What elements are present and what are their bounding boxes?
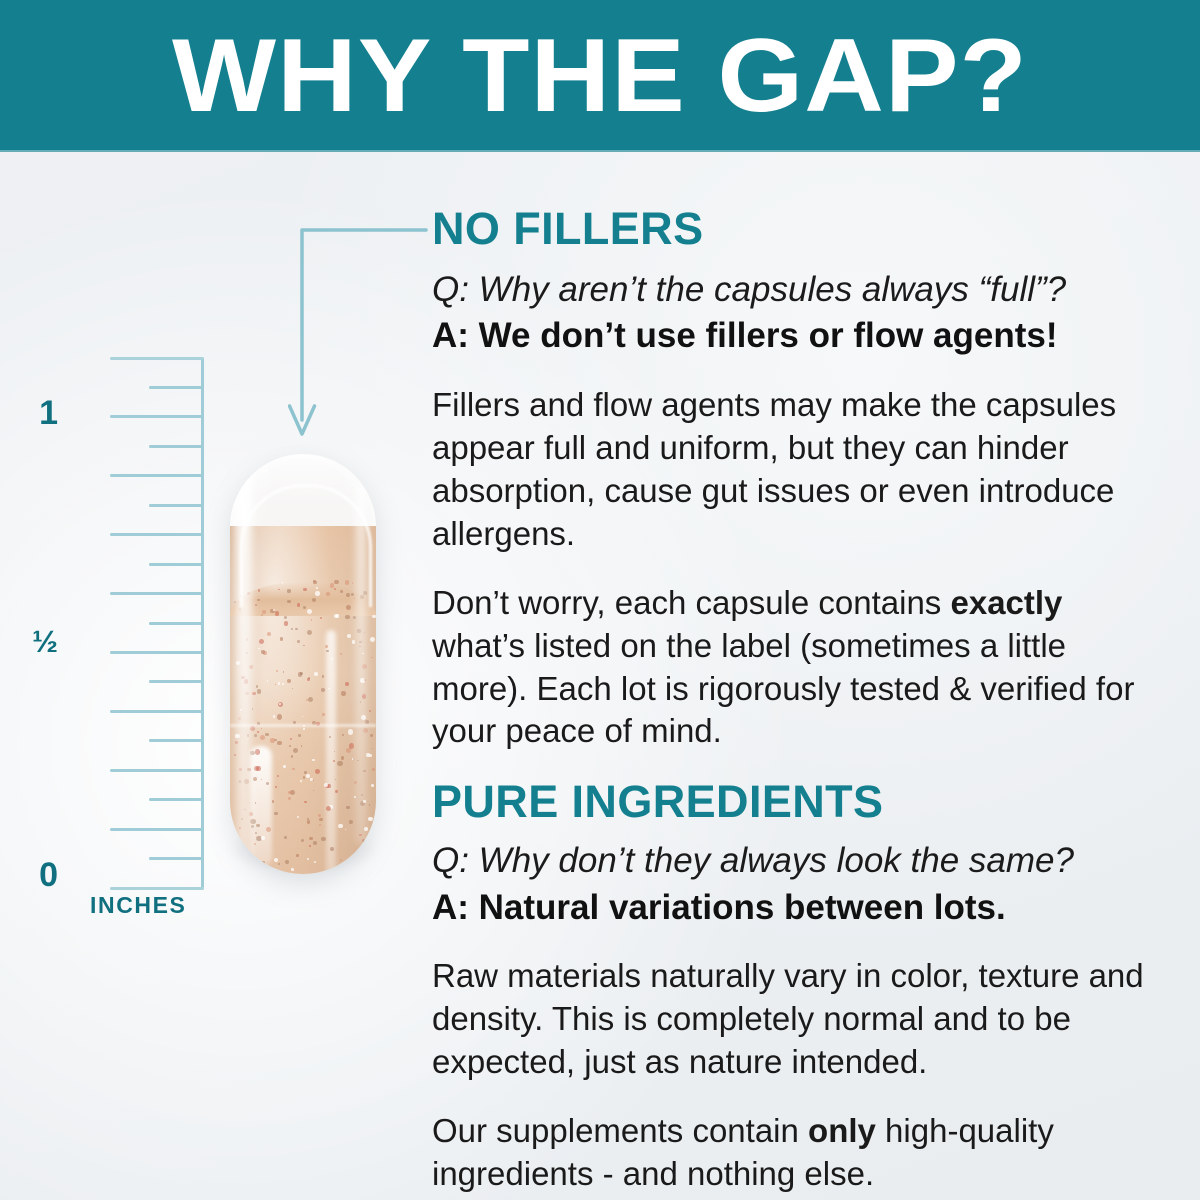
powder-speck bbox=[325, 645, 328, 648]
body-paragraph: Fillers and flow agents may make the cap… bbox=[432, 384, 1148, 556]
body-paragraph: Don’t worry, each capsule contains exact… bbox=[432, 582, 1148, 754]
powder-highlight-a bbox=[250, 746, 272, 866]
powder-speck bbox=[345, 682, 350, 687]
powder-speck bbox=[369, 818, 370, 819]
powder-speck bbox=[293, 748, 298, 753]
powder-speck bbox=[289, 745, 291, 747]
section-answer: A: We don’t use fillers or flow agents! bbox=[432, 315, 1148, 358]
powder-speck bbox=[270, 738, 274, 742]
powder-speck bbox=[314, 861, 316, 863]
ruler-tick-minor bbox=[149, 680, 204, 683]
powder-speck bbox=[321, 837, 325, 841]
powder-speck bbox=[348, 729, 353, 734]
section-heading: PURE INGREDIENTS bbox=[432, 779, 1148, 826]
section-paragraphs: Raw materials naturally vary in color, t… bbox=[432, 955, 1148, 1195]
ruler-tick-major bbox=[110, 592, 204, 595]
powder-speck bbox=[244, 869, 247, 872]
powder-speck bbox=[306, 699, 308, 701]
powder-speck bbox=[341, 756, 344, 759]
powder-speck bbox=[278, 682, 280, 684]
powder-speck bbox=[369, 710, 371, 712]
powder-speck bbox=[253, 777, 257, 781]
powder-speck bbox=[319, 818, 322, 821]
powder-speck bbox=[330, 847, 334, 851]
powder-speck bbox=[295, 628, 298, 631]
capsule-image bbox=[222, 448, 384, 880]
section-pure-ingredients: PURE INGREDIENTS Q: Why don’t they alway… bbox=[432, 779, 1148, 1196]
ruler-tick-major bbox=[110, 887, 204, 890]
powder-speck bbox=[349, 859, 354, 864]
capsule-shell bbox=[230, 454, 376, 874]
header-underline bbox=[0, 150, 1200, 152]
powder-speck bbox=[303, 776, 305, 778]
powder-speck bbox=[261, 728, 262, 729]
powder-speck bbox=[319, 824, 321, 826]
powder-speck bbox=[290, 738, 292, 740]
powder-speck bbox=[274, 812, 278, 816]
powder-speck bbox=[285, 860, 289, 864]
powder-speck bbox=[333, 760, 335, 762]
powder-speck bbox=[372, 768, 375, 771]
ruler-tick-major bbox=[110, 710, 204, 713]
powder-speck bbox=[313, 841, 317, 845]
powder-speck bbox=[304, 771, 307, 774]
powder-speck bbox=[259, 639, 264, 644]
powder-speck bbox=[345, 829, 346, 830]
section-question: Q: Why aren’t the capsules always “full”… bbox=[432, 269, 1148, 312]
ruler-tick-major bbox=[110, 533, 204, 536]
powder-speck bbox=[313, 790, 314, 791]
powder-speck bbox=[288, 791, 291, 794]
powder-speck bbox=[329, 736, 331, 738]
powder-speck bbox=[334, 614, 338, 618]
powder-speck bbox=[256, 685, 258, 687]
ruler-tick-minor bbox=[149, 857, 204, 860]
powder-speck bbox=[352, 640, 355, 643]
powder-speck bbox=[322, 675, 324, 677]
powder-speck bbox=[298, 672, 303, 677]
capsule-gloss-right bbox=[356, 484, 366, 844]
powder-speck bbox=[257, 689, 261, 693]
powder-speck bbox=[257, 731, 259, 733]
powder-speck bbox=[279, 703, 281, 705]
content-column: NO FILLERS Q: Why aren’t the capsules al… bbox=[432, 206, 1148, 1200]
ruler-tick-major bbox=[110, 828, 204, 831]
powder-speck bbox=[283, 671, 285, 673]
powder-speck bbox=[338, 824, 343, 829]
ruler-tick-minor bbox=[149, 563, 204, 566]
powder-speck bbox=[260, 735, 265, 740]
powder-speck bbox=[284, 616, 287, 619]
powder-speck bbox=[267, 632, 271, 636]
powder-speck bbox=[284, 621, 288, 625]
powder-speck bbox=[340, 653, 342, 655]
inches-ruler: 1 ½ 0 INCHES bbox=[60, 352, 210, 922]
powder-speck bbox=[288, 797, 291, 800]
powder-speck bbox=[300, 780, 302, 782]
powder-speck bbox=[274, 858, 278, 862]
powder-speck bbox=[315, 769, 320, 774]
ruler-tick-minor bbox=[149, 445, 204, 448]
powder-speck bbox=[258, 648, 259, 649]
capsule-cap-rim bbox=[240, 484, 372, 607]
powder-speck bbox=[254, 734, 257, 737]
powder-speck bbox=[349, 820, 353, 824]
powder-speck bbox=[277, 775, 279, 777]
powder-speck bbox=[318, 814, 321, 817]
powder-speck bbox=[272, 800, 275, 803]
powder-speck bbox=[307, 630, 312, 635]
ruler-tick-major bbox=[110, 769, 204, 772]
powder-speck bbox=[347, 634, 351, 638]
ruler-tick-major bbox=[110, 651, 204, 654]
powder-speck bbox=[371, 784, 374, 787]
powder-speck bbox=[346, 748, 351, 753]
body-paragraph: Raw materials naturally vary in color, t… bbox=[432, 955, 1148, 1084]
powder-speck bbox=[255, 832, 257, 834]
powder-speck bbox=[335, 790, 338, 793]
powder-speck bbox=[277, 741, 281, 745]
powder-speck bbox=[369, 804, 371, 806]
powder-speck bbox=[341, 691, 345, 695]
powder-speck bbox=[303, 728, 305, 730]
powder-speck bbox=[340, 859, 342, 861]
powder-speck bbox=[254, 766, 259, 771]
powder-speck bbox=[307, 820, 311, 824]
powder-speck bbox=[273, 715, 276, 718]
powder-speck bbox=[321, 688, 325, 692]
powder-speck bbox=[346, 806, 350, 810]
powder-speck bbox=[372, 843, 376, 847]
powder-speck bbox=[308, 697, 313, 702]
powder-speck bbox=[275, 684, 276, 685]
powder-speck bbox=[252, 692, 256, 696]
powder-speck bbox=[372, 615, 376, 619]
infographic-page: WHY THE GAP? 1 ½ 0 INCHES bbox=[0, 0, 1200, 1200]
powder-speck bbox=[372, 748, 373, 749]
powder-speck bbox=[337, 761, 342, 766]
ruler-label-0: 0 bbox=[14, 858, 58, 892]
powder-speck bbox=[369, 754, 372, 757]
powder-speck bbox=[314, 672, 318, 676]
powder-speck bbox=[261, 836, 264, 839]
powder-speck bbox=[301, 839, 304, 842]
powder-speck bbox=[302, 716, 304, 718]
powder-speck bbox=[277, 714, 282, 719]
ruler-tick-minor bbox=[149, 739, 204, 742]
powder-speck bbox=[280, 637, 284, 641]
elbow-arrow-icon bbox=[288, 224, 428, 444]
ruler-tick-minor bbox=[149, 386, 204, 389]
ruler-tick-major bbox=[110, 415, 204, 418]
powder-speck bbox=[312, 759, 315, 762]
powder-speck bbox=[261, 650, 264, 653]
powder-speck bbox=[273, 609, 275, 611]
section-no-fillers: NO FILLERS Q: Why aren’t the capsules al… bbox=[432, 206, 1148, 753]
ruler-tick-major bbox=[110, 357, 204, 360]
capsule-gloss-left bbox=[236, 468, 252, 860]
section-answer: A: Natural variations between lots. bbox=[432, 887, 1148, 930]
powder-speck bbox=[322, 713, 325, 716]
powder-speck bbox=[342, 734, 345, 737]
powder-speck bbox=[320, 617, 322, 619]
powder-speck bbox=[310, 778, 313, 781]
section-question: Q: Why don’t they always look the same? bbox=[432, 840, 1148, 883]
powder-speck bbox=[251, 857, 253, 859]
powder-speck bbox=[297, 816, 299, 818]
powder-speck bbox=[371, 657, 373, 659]
ruler-unit-label: INCHES bbox=[90, 892, 187, 919]
body-paragraph: Our supplements contain only high-qualit… bbox=[432, 1110, 1148, 1196]
ruler-label-1: 1 bbox=[14, 396, 58, 430]
powder-speck bbox=[287, 679, 291, 683]
powder-speck bbox=[298, 734, 301, 737]
powder-speck bbox=[278, 863, 280, 865]
header-banner: WHY THE GAP? bbox=[0, 0, 1200, 152]
powder-speck bbox=[352, 758, 354, 760]
ruler-tick-minor bbox=[149, 504, 204, 507]
powder-speck bbox=[345, 615, 350, 620]
powder-speck bbox=[311, 619, 313, 621]
powder-speck bbox=[291, 755, 294, 758]
powder-speck bbox=[282, 683, 284, 685]
powder-speck bbox=[254, 843, 256, 845]
powder-speck bbox=[307, 858, 309, 860]
powder-speck bbox=[292, 768, 294, 770]
powder-speck bbox=[261, 779, 262, 780]
powder-speck bbox=[256, 824, 259, 827]
ruler-tick-minor bbox=[149, 798, 204, 801]
powder-speck bbox=[255, 749, 260, 754]
powder-speck bbox=[301, 745, 303, 747]
powder-speck bbox=[265, 733, 269, 737]
ruler-tick-minor bbox=[149, 622, 204, 625]
powder-speck bbox=[309, 837, 313, 841]
ruler-tick-major bbox=[110, 474, 204, 477]
powder-speck bbox=[345, 870, 350, 874]
powder-speck bbox=[297, 640, 301, 644]
powder-speck bbox=[267, 680, 268, 681]
powder-speck bbox=[292, 688, 293, 689]
powder-speck bbox=[276, 670, 278, 672]
powder-speck bbox=[296, 854, 299, 857]
page-title: WHY THE GAP? bbox=[0, 0, 1200, 152]
powder-speck bbox=[304, 801, 306, 803]
section-heading: NO FILLERS bbox=[432, 206, 1148, 253]
section-paragraphs: Fillers and flow agents may make the cap… bbox=[432, 384, 1148, 753]
powder-speck bbox=[303, 645, 304, 646]
powder-speck bbox=[246, 869, 249, 872]
powder-speck bbox=[291, 868, 294, 871]
powder-speck bbox=[370, 734, 373, 737]
ruler-label-half: ½ bbox=[4, 626, 58, 657]
powder-speck bbox=[291, 628, 293, 630]
powder-speck bbox=[261, 614, 263, 616]
powder-speck bbox=[284, 836, 287, 839]
powder-speck bbox=[309, 845, 310, 846]
powder-speck bbox=[275, 786, 277, 788]
powder-speck bbox=[283, 765, 286, 768]
powder-speck bbox=[370, 637, 375, 642]
